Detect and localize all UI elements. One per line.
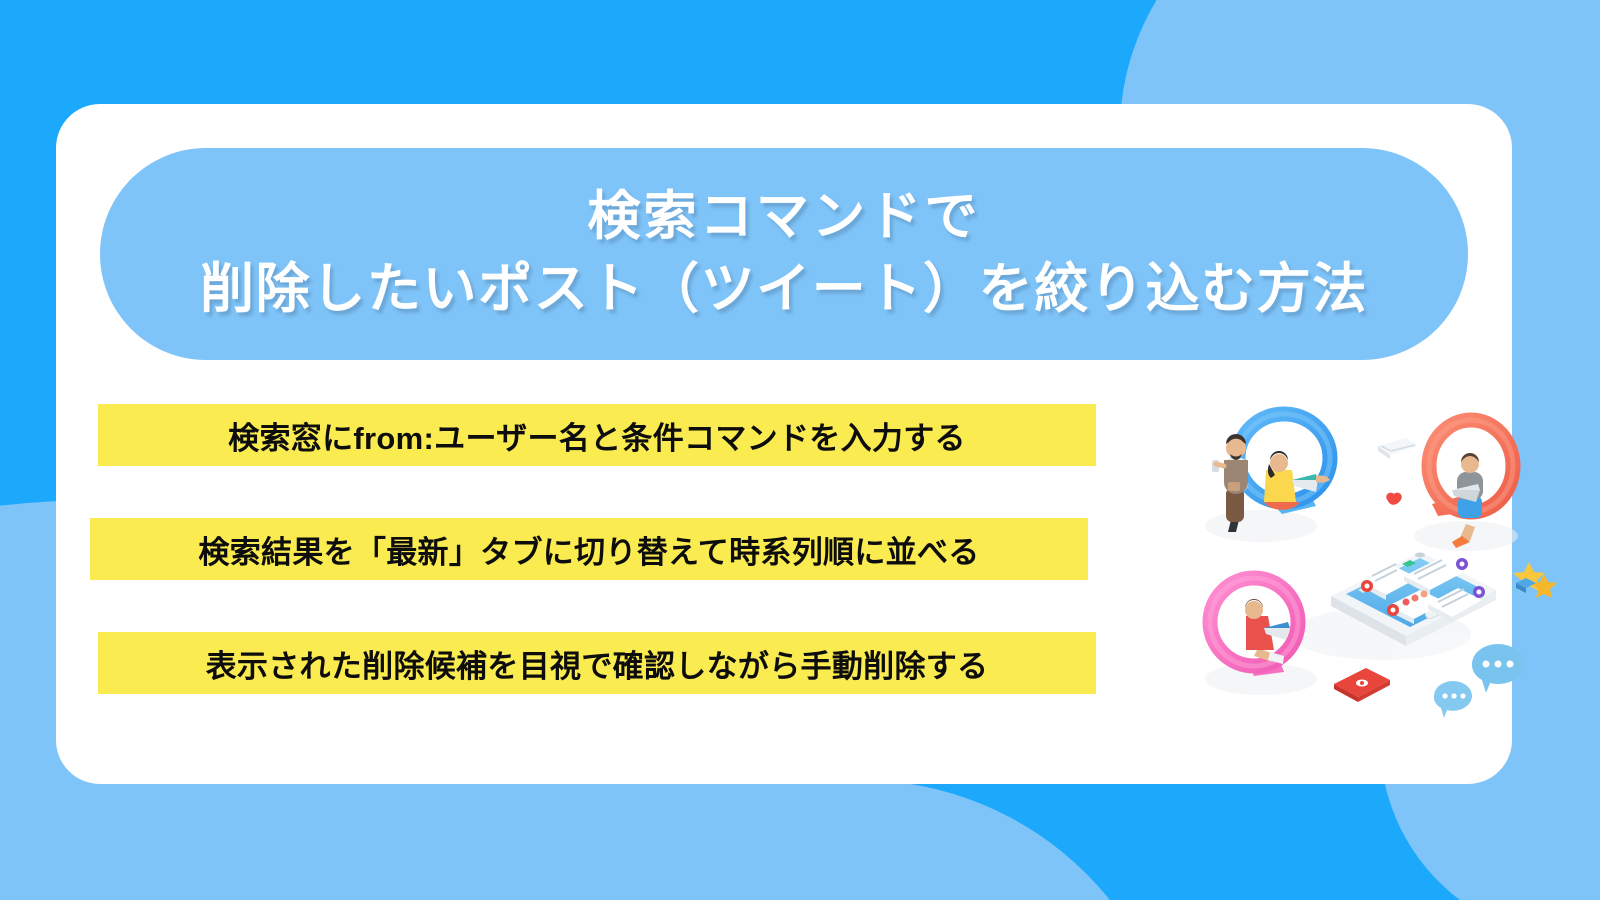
- chat-bubbles: [1434, 644, 1524, 718]
- bullet-label-3: 表示された削除候補を目視で確認しながら手動削除する: [206, 641, 989, 686]
- bullet-list: 検索窓にfrom:ユーザー名と条件コマンドを入力する 検索結果を「最新」タブに切…: [56, 404, 1116, 694]
- red-tablet: [1334, 668, 1390, 702]
- bullet-row: 検索窓にfrom:ユーザー名と条件コマンドを入力する: [98, 404, 1096, 466]
- bullet-row: 表示された削除候補を目視で確認しながら手動削除する: [98, 632, 1096, 694]
- title-line-1: 検索コマンドで: [587, 182, 980, 252]
- bullet-row: 検索結果を「最新」タブに切り替えて時系列順に並べる: [90, 518, 1088, 580]
- title-pill: 検索コマンドで 削除したいポスト（ツイート）を絞り込む方法: [100, 148, 1468, 360]
- star-icons: [1513, 562, 1557, 598]
- heart-icon: [1386, 493, 1401, 505]
- bullet-label-2: 検索結果を「最新」タブに切り替えて時系列順に並べる: [198, 527, 979, 572]
- envelope-icon: [1378, 438, 1418, 459]
- title-line-2: 削除したいポスト（ツイート）を絞り込む方法: [200, 254, 1368, 325]
- content-card: 検索コマンドで 削除したいポスト（ツイート）を絞り込む方法 検索窓にfrom:ユ…: [56, 104, 1512, 784]
- bullet-label-1: 検索窓にfrom:ユーザー名と条件コマンドを入力する: [228, 413, 966, 458]
- background-blob-bottom-wide: [0, 780, 1180, 900]
- isometric-social-chat-illustration: [1166, 384, 1566, 724]
- slide-canvas: 検索コマンドで 削除したいポスト（ツイート）を絞り込む方法 検索窓にfrom:ユ…: [0, 0, 1600, 900]
